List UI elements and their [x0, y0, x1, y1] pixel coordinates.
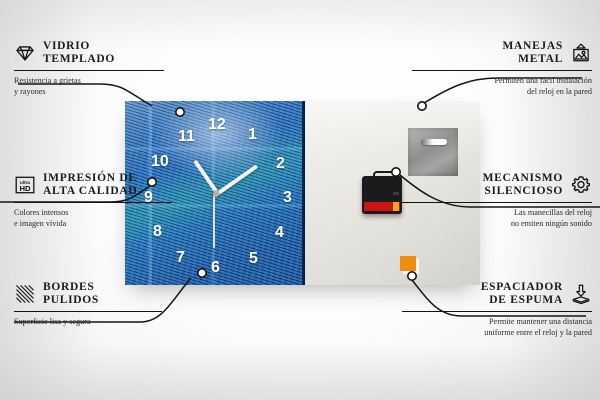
clock-numeral-7: 7	[176, 250, 185, 266]
callout-title-impresion: IMPRESIÓN DE	[43, 172, 137, 185]
foam-spacer-arrow-icon	[570, 283, 592, 305]
clock-numeral-11: 11	[178, 129, 195, 145]
hanger-slot	[421, 139, 447, 145]
callout-desc-espaciador: Permite mantener una distancia	[402, 316, 592, 327]
callout-title-espaciador-2: DE ESPUMA	[481, 294, 563, 307]
clock-numeral-4: 4	[275, 225, 284, 241]
callout-desc-manejas-2: del reloj en la pared	[412, 86, 592, 97]
clock-numeral-6: 6	[211, 260, 220, 276]
picture-frame-hanging-icon	[570, 42, 592, 64]
callout-title-impresion-2: ALTA CALIDAD	[43, 185, 137, 198]
callout-title-espaciador: ESPACIADOR	[481, 281, 563, 294]
clock-center-pin	[213, 191, 219, 197]
callout-desc-bordes: Superficie lisa y segura	[14, 316, 174, 327]
callout-rule-espaciador	[402, 311, 592, 312]
callout-rule-impresion	[14, 202, 172, 203]
clock-numeral-3: 3	[283, 190, 292, 206]
callout-title-vidrio-2: TEMPLADO	[43, 53, 115, 66]
callout-rule-mecanismo	[402, 202, 592, 203]
clock-mechanism-box	[362, 176, 402, 214]
callout-desc-impresion: Colores intensos	[14, 207, 184, 218]
callout-rule-bordes	[14, 311, 162, 312]
gear-icon	[570, 174, 592, 196]
mechanism-detail	[393, 192, 399, 195]
callout-desc-vidrio: Resistencia a grietas	[14, 75, 174, 86]
infographic-canvas: 12 1 2 3 4 5 6 7 8 9 10 11	[0, 0, 600, 400]
clock-second-hand	[214, 193, 216, 248]
callout-desc-vidrio-2: y rayones	[14, 86, 174, 97]
callout-bordes-pulidos: BORDES PULIDOS Superficie lisa y segura	[14, 281, 174, 327]
mechanism-handle	[373, 171, 395, 180]
callout-desc-mecanismo: Las manecillas del reloj	[402, 207, 592, 218]
callout-title-bordes-2: PULIDOS	[43, 294, 99, 307]
callout-title-manejas-2: METAL	[503, 53, 564, 66]
callout-title-mecanismo-2: SILENCIOSO	[483, 185, 563, 198]
callout-title-mecanismo: MECANISMO	[483, 172, 563, 185]
callout-desc-impresion-2: e imagen vívida	[14, 218, 184, 229]
clock-numeral-12: 12	[208, 117, 226, 133]
callout-espaciador-espuma: ESPACIADOR DE ESPUMA Permite mantener un…	[402, 281, 592, 338]
callout-title-manejas: MANEJAS	[503, 40, 564, 53]
callout-desc-mecanismo-2: no emiten ningún sonido	[402, 218, 592, 229]
callout-rule-manejas	[412, 70, 592, 71]
clock-numeral-2: 2	[276, 156, 285, 172]
diamond-icon	[14, 42, 36, 64]
callout-vidrio-templado: VIDRIO TEMPLADO Resistencia a grietas y …	[14, 40, 174, 97]
clock-numeral-5: 5	[249, 251, 258, 267]
callout-rule-vidrio	[14, 70, 164, 71]
callout-mecanismo-silencioso: MECANISMO SILENCIOSO Las manecillas del …	[402, 172, 592, 229]
foam-spacer	[400, 256, 416, 271]
mechanism-label	[364, 202, 400, 211]
ultra-hd-icon: ultra HD	[14, 174, 36, 196]
callout-desc-espaciador-2: uniforme entre el reloj y la pared	[402, 327, 592, 338]
callout-impresion-hd: ultra HD IMPRESIÓN DE ALTA CALIDAD Color…	[14, 172, 184, 229]
callout-title-bordes: BORDES	[43, 281, 99, 294]
clock-numeral-1: 1	[248, 127, 257, 143]
svg-text:HD: HD	[19, 184, 31, 193]
polished-edges-icon	[14, 283, 36, 305]
callout-manejas-metal: MANEJAS METAL Permiten una fácil instala…	[412, 40, 592, 97]
metal-hanger-plate	[408, 128, 458, 176]
callout-desc-manejas: Permiten una fácil instalación	[412, 75, 592, 86]
callout-title-vidrio: VIDRIO	[43, 40, 115, 53]
clock-numeral-10: 10	[151, 154, 169, 170]
